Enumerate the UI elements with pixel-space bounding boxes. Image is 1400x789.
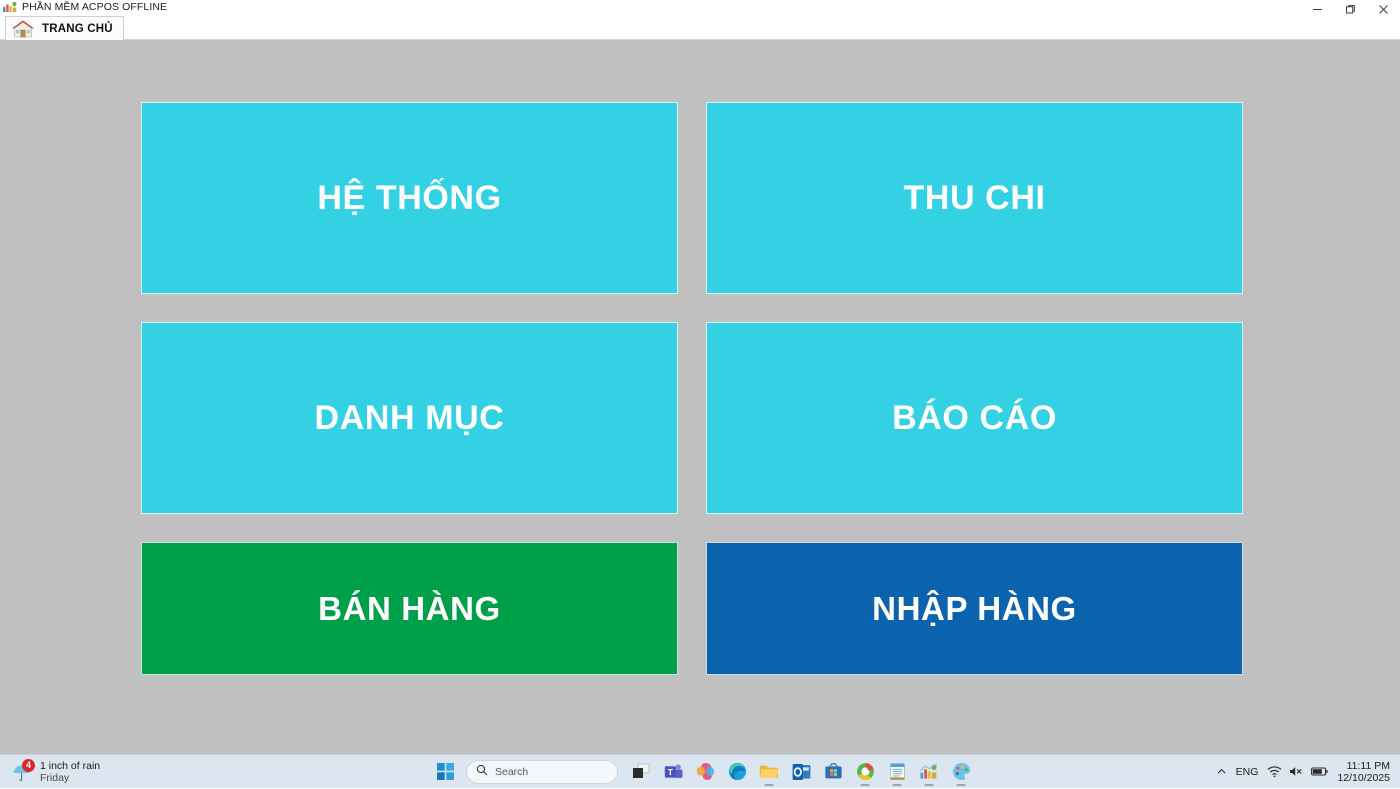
green-app-icon[interactable] xyxy=(850,757,880,787)
file-explorer-icon[interactable] xyxy=(754,757,784,787)
search-placeholder: Search xyxy=(495,766,528,778)
windows-start-icon[interactable] xyxy=(430,757,460,787)
notepad-icon[interactable] xyxy=(882,757,912,787)
paint-icon[interactable] xyxy=(946,757,976,787)
acpos-app-icon[interactable] xyxy=(914,757,944,787)
home-icon xyxy=(10,19,36,39)
tab-strip: TRANG CHỦ xyxy=(0,14,1400,40)
window-title: PHẦN MỀM ACPOS OFFLINE xyxy=(22,0,167,14)
chart-app-icon xyxy=(2,0,18,14)
chevron-up-icon[interactable] xyxy=(1216,766,1227,777)
microsoft-outlook-icon[interactable] xyxy=(786,757,816,787)
system-tray: ENG 11:11 PM 12/10/20 xyxy=(1216,757,1394,787)
taskbar: 4 1 inch of rain Friday Search xyxy=(0,754,1400,788)
task-view-icon[interactable] xyxy=(626,757,656,787)
weather-widget[interactable]: 4 1 inch of rain Friday xyxy=(10,757,100,787)
tile-bao-cao[interactable]: BÁO CÁO xyxy=(706,322,1243,514)
clock-time: 11:11 PM xyxy=(1347,760,1390,772)
tile-thu-chi[interactable]: THU CHI xyxy=(706,102,1243,294)
tile-nhap-hang[interactable]: NHẬP HÀNG xyxy=(706,542,1243,675)
microsoft-teams-icon[interactable]: T xyxy=(658,757,688,787)
tab-label: TRANG CHỦ xyxy=(42,23,113,35)
clock-date: 12/10/2025 xyxy=(1337,772,1390,784)
weather-notification-badge: 4 xyxy=(22,759,35,772)
language-indicator[interactable]: ENG xyxy=(1234,766,1261,778)
tile-he-thong[interactable]: HỆ THỐNG xyxy=(141,102,678,294)
tile-ban-hang[interactable]: BÁN HÀNG xyxy=(141,542,678,675)
copilot-icon[interactable] xyxy=(690,757,720,787)
battery-icon[interactable] xyxy=(1311,766,1328,777)
svg-text:T: T xyxy=(667,767,673,777)
taskbar-center-cluster: Search T xyxy=(430,757,976,787)
weather-title: 1 inch of rain xyxy=(40,760,100,772)
search-icon xyxy=(476,763,488,781)
rain-umbrella-icon: 4 xyxy=(10,760,34,784)
speaker-muted-icon[interactable] xyxy=(1289,765,1304,778)
application-window: PHẦN MỀM ACPOS OFFLINE xyxy=(0,0,1400,754)
microsoft-edge-icon[interactable] xyxy=(722,757,752,787)
tile-danh-muc[interactable]: DANH MỤC xyxy=(141,322,678,514)
weather-subtitle: Friday xyxy=(40,772,100,784)
clock[interactable]: 11:11 PM 12/10/2025 xyxy=(1337,760,1390,784)
title-bar: PHẦN MỀM ACPOS OFFLINE xyxy=(0,0,1400,14)
wifi-icon[interactable] xyxy=(1267,765,1282,778)
tab-trang-chu[interactable]: TRANG CHỦ xyxy=(5,16,124,40)
search-input[interactable]: Search xyxy=(466,760,618,784)
content-area: HỆ THỐNG THU CHI DANH MỤC BÁO CÁO BÁN HÀ… xyxy=(0,40,1400,754)
microsoft-store-icon[interactable] xyxy=(818,757,848,787)
tile-grid: HỆ THỐNG THU CHI DANH MỤC BÁO CÁO BÁN HÀ… xyxy=(141,102,1243,675)
